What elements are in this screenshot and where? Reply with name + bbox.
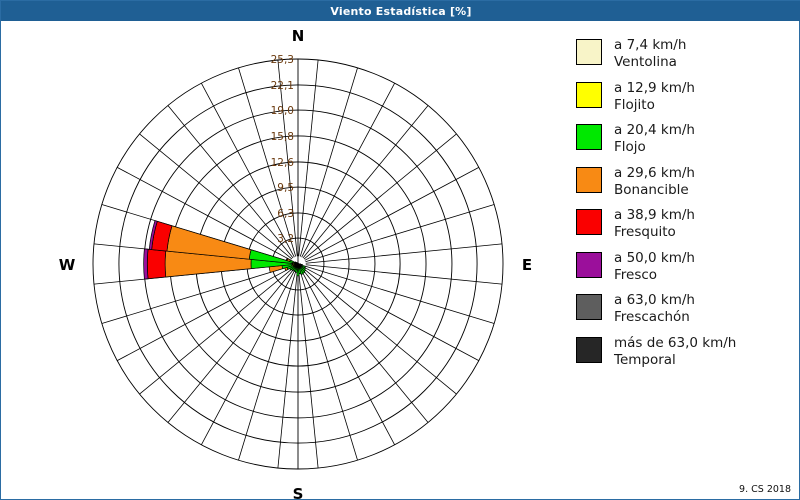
legend-label: a 38,9 km/hFresquito — [614, 207, 695, 242]
grid-spoke — [306, 244, 502, 263]
grid-spoke — [299, 272, 318, 468]
legend-color-swatch — [576, 124, 602, 150]
window-content: 3,26,39,512,615,819,022,125,3 NESW a 7,4… — [1, 21, 799, 499]
legend-item[interactable]: a 50,0 km/hFresco — [576, 250, 791, 285]
legend-category-name: Flojito — [614, 97, 695, 114]
grid-spoke — [304, 269, 456, 394]
grid-spoke — [303, 270, 428, 422]
radial-tick-label: 6,3 — [277, 208, 294, 220]
legend-color-swatch — [576, 294, 602, 320]
legend-speed-range: a 38,9 km/h — [614, 207, 695, 223]
cardinal-label-e: E — [522, 256, 532, 274]
legend-color-swatch — [576, 39, 602, 65]
legend-category-name: Fresco — [614, 267, 695, 284]
legend-color-swatch — [576, 82, 602, 108]
legend-item[interactable]: a 63,0 km/hFrescachón — [576, 292, 791, 327]
legend-item[interactable]: a 12,9 km/hFlojito — [576, 80, 791, 115]
grid-spoke — [299, 60, 318, 256]
window-title: Viento Estadística [%] — [330, 5, 471, 18]
grid-spoke — [302, 83, 395, 257]
legend-color-swatch — [576, 337, 602, 363]
legend-speed-range: a 63,0 km/h — [614, 292, 695, 308]
legend-category-name: Ventolina — [614, 54, 686, 71]
legend-category-name: Fresquito — [614, 224, 695, 241]
radial-tick-label: 25,3 — [271, 54, 294, 66]
cardinal-label-n: N — [292, 27, 305, 45]
wind-rose-plot: 3,26,39,512,615,819,022,125,3 NESW — [1, 21, 566, 499]
window-titlebar: Viento Estadística [%] — [1, 1, 800, 21]
grid-spoke — [306, 265, 502, 284]
legend-speed-range: más de 63,0 km/h — [614, 335, 736, 351]
grid-spoke — [168, 270, 293, 422]
radial-tick-label: 15,8 — [271, 131, 294, 143]
legend-label: a 20,4 km/hFlojo — [614, 122, 695, 157]
legend-item[interactable]: a 29,6 km/hBonancible — [576, 165, 791, 200]
legend-category-name: Flojo — [614, 139, 695, 156]
legend-category-name: Bonancible — [614, 182, 695, 199]
radial-tick-label: 19,0 — [271, 105, 294, 117]
legend-category-name: Frescachón — [614, 309, 695, 326]
legend-speed-range: a 12,9 km/h — [614, 80, 695, 96]
wind-petal-segment — [144, 249, 148, 279]
radial-tick-labels: 3,26,39,512,615,819,022,125,3 — [271, 54, 295, 245]
footer-credit: 9. CS 2018 — [739, 484, 791, 495]
grid-spoke — [117, 268, 291, 361]
legend-color-swatch — [576, 167, 602, 193]
wind-rose-svg: 3,26,39,512,615,819,022,125,3 NESW — [1, 21, 566, 499]
grid-spoke — [140, 269, 292, 394]
legend-item[interactable]: a 38,9 km/hFresquito — [576, 207, 791, 242]
grid-spoke — [201, 271, 294, 445]
legend-label: a 7,4 km/hVentolina — [614, 37, 686, 72]
legend-item[interactable]: a 20,4 km/hFlojo — [576, 122, 791, 157]
radial-tick-label: 3,2 — [277, 233, 294, 245]
grid-spoke — [278, 272, 297, 468]
legend-label: a 29,6 km/hBonancible — [614, 165, 695, 200]
legend-label: a 50,0 km/hFresco — [614, 250, 695, 285]
grid-spoke — [305, 268, 479, 361]
radial-tick-label: 9,5 — [277, 182, 294, 194]
legend-color-swatch — [576, 209, 602, 235]
legend-item[interactable]: a 7,4 km/hVentolina — [576, 37, 791, 72]
radial-tick-label: 22,1 — [271, 80, 294, 92]
radial-tick-label: 12,6 — [271, 157, 295, 169]
legend-speed-range: a 29,6 km/h — [614, 165, 695, 181]
legend-label: a 63,0 km/hFrescachón — [614, 292, 695, 327]
legend-speed-range: a 20,4 km/h — [614, 122, 695, 138]
cardinal-label-w: W — [59, 256, 76, 274]
grid-spoke — [304, 134, 456, 259]
legend-item[interactable]: más de 63,0 km/hTemporal — [576, 335, 791, 370]
grid-spoke — [302, 271, 395, 445]
legend: a 7,4 km/hVentolinaa 12,9 km/hFlojitoa 2… — [576, 37, 791, 377]
grid-spoke — [305, 167, 479, 260]
legend-category-name: Temporal — [614, 352, 736, 369]
legend-label: a 12,9 km/hFlojito — [614, 80, 695, 115]
wind-rose-window: Viento Estadística [%] 3,26,39,512,615,8… — [0, 0, 800, 500]
legend-label: más de 63,0 km/hTemporal — [614, 335, 736, 370]
grid-spoke — [303, 106, 428, 258]
legend-speed-range: a 7,4 km/h — [614, 37, 686, 53]
wind-petal-segment — [147, 249, 165, 279]
legend-color-swatch — [576, 252, 602, 278]
cardinal-label-s: S — [293, 485, 304, 499]
legend-speed-range: a 50,0 km/h — [614, 250, 695, 266]
